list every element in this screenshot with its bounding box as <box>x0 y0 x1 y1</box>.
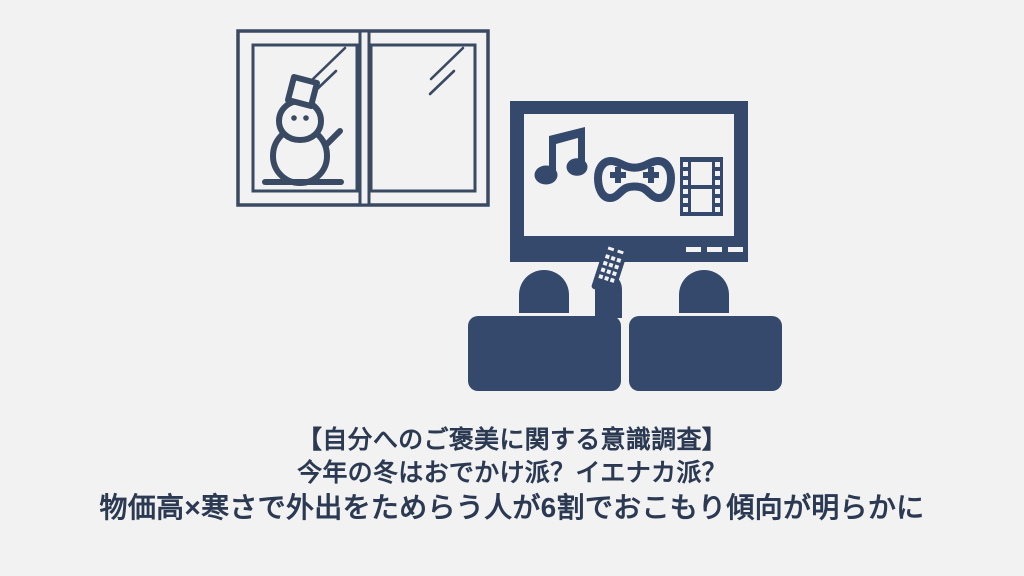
snowman-eye-left <box>291 115 297 121</box>
two-people-on-sofa <box>468 241 782 391</box>
snowman-top-hat <box>288 77 317 106</box>
caption-line-2: 今年の冬はおでかけ派？イエナカ派？ <box>0 457 1024 490</box>
person-right-head <box>679 270 729 313</box>
snowman-ground-line <box>262 179 344 185</box>
sofa-seat-right <box>629 316 782 391</box>
window-with-snowman <box>238 31 488 205</box>
tv-indicator-lights <box>686 247 743 252</box>
caption-block: 【自分へのご褒美に関する意識調査】 今年の冬はおでかけ派？イエナカ派？ 物価高×… <box>0 424 1024 527</box>
person-left-head <box>519 270 569 313</box>
film-frame-bottom <box>691 189 712 212</box>
film-strip-icon <box>680 157 723 216</box>
tv-indicator-1 <box>686 247 701 252</box>
window-pane-right <box>371 45 475 191</box>
illustration-svg <box>0 0 1024 420</box>
window-mullion <box>360 31 369 205</box>
snowman-eye-right <box>303 115 309 121</box>
snowman-head <box>279 101 321 140</box>
sofa-seat-left <box>468 316 621 391</box>
tv-indicator-2 <box>707 247 722 252</box>
film-frame-top <box>691 162 712 185</box>
tv-indicator-3 <box>728 247 743 252</box>
caption-line-3: 物価高×寒さで外出をためらう人が6割でおこもり傾向が明らかに <box>0 490 1024 527</box>
slide-canvas: 【自分へのご褒美に関する意識調査】 今年の冬はおでかけ派？イエナカ派？ 物価高×… <box>0 0 1024 576</box>
caption-line-1: 【自分へのご褒美に関する意識調査】 <box>0 424 1024 457</box>
winter-indoor-entertainment-illustration <box>0 0 1024 420</box>
television-set <box>510 101 748 262</box>
